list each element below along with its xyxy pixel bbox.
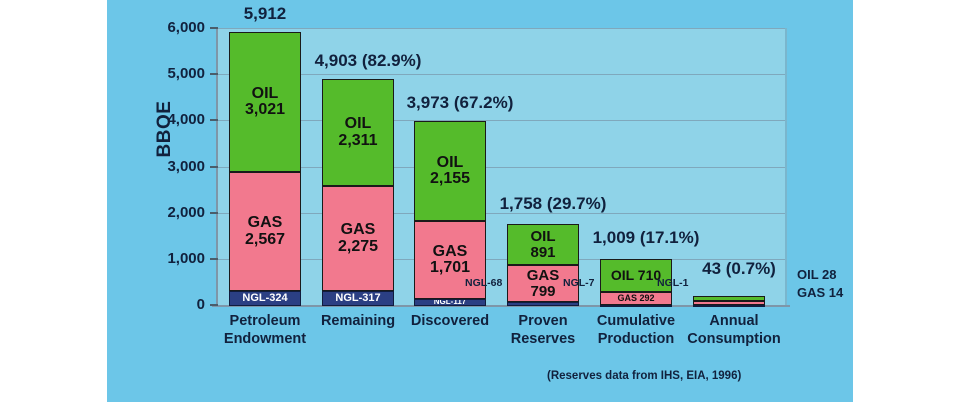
x-category-cumulative-production: Cumulative Production [586,313,686,348]
x-category-remaining: Remaining [308,313,408,331]
ngl-callout-cumulative-production: NGL-7 [563,277,595,289]
bar-proven-reserves[interactable]: OIL 891 GAS 799 [507,224,579,306]
ngl-callout-annual-consumption: NGL-1 [657,277,689,289]
annual-consumption-side-note: OIL 28 GAS 14 [797,266,843,301]
segment-gas[interactable]: GAS 2,567 [229,172,301,291]
segment-gas-name: GAS [341,222,376,238]
y-tick-mark-4000 [210,119,218,121]
segment-oil[interactable]: OIL 3,021 [229,32,301,172]
segment-gas[interactable]: GAS 292 [600,292,672,305]
segment-gas-value: 1,701 [430,260,470,276]
segment-oil-value: 2,155 [430,171,470,187]
x-category-line1: Annual [679,313,789,331]
segment-ngl-label: NGL-324 [242,293,287,304]
bar-remaining[interactable]: OIL 2,311 GAS 2,275 NGL-317 [322,79,394,306]
y-tick-label-4000: 4,000 [135,111,205,128]
y-tick-label-0: 0 [135,296,205,313]
segment-oil-value: 891 [530,245,555,260]
segment-gas[interactable]: GAS 2,275 [322,186,394,291]
segment-ngl[interactable] [507,302,579,306]
x-category-line1: Proven [493,313,593,331]
side-note-oil: OIL 28 [797,266,843,284]
segment-ngl[interactable] [600,305,672,307]
bar-annual-consumption[interactable] [693,296,765,306]
x-category-proven-reserves: Proven Reserves [493,313,593,348]
bar-total-cumulative-production: 1,009 (17.1%) [571,228,721,248]
segment-ngl[interactable] [693,305,765,307]
segment-gas-value: 2,567 [245,232,285,248]
ngl-callout-proven-reserves: NGL-68 [465,277,502,289]
segment-gas-name: GAS [527,268,560,283]
y-tick-mark-6000 [210,27,218,29]
y-tick-label-2000: 2,000 [135,204,205,221]
x-category-petroleum-endowment: Petroleum Endowment [215,313,315,348]
segment-ngl-label: NGL-117 [434,299,466,306]
segment-ngl[interactable]: NGL-317 [322,291,394,306]
bar-total-petroleum-endowment: 5,912 [210,4,320,24]
x-category-discovered: Discovered [400,313,500,331]
segment-oil[interactable]: OIL 2,311 [322,79,394,186]
x-category-line1: Discovered [400,313,500,331]
y-tick-label-5000: 5,000 [135,65,205,82]
segment-oil[interactable]: OIL 2,155 [414,121,486,221]
source-note: (Reserves data from IHS, EIA, 1996) [547,370,741,382]
bar-total-discovered: 3,973 (67.2%) [385,93,535,113]
gridline-4000 [217,120,785,121]
y-tick-mark-0 [210,304,218,306]
y-tick-mark-1000 [210,258,218,260]
y-tick-mark-5000 [210,73,218,75]
side-note-gas: GAS 14 [797,284,843,302]
segment-oil-name: OIL [345,116,372,132]
segment-ngl[interactable]: NGL-324 [229,291,301,306]
y-tick-label-3000: 3,000 [135,158,205,175]
segment-ngl-label: NGL-317 [335,293,380,304]
x-category-annual-consumption: Annual Consumption [679,313,789,348]
segment-oil-name: OIL 710 [611,268,661,282]
segment-oil-name: OIL [437,155,464,171]
x-category-line2: Reserves [493,331,593,349]
segment-oil-name: OIL [252,86,279,102]
gridline-6000 [217,28,785,29]
x-category-line2: Production [586,331,686,349]
bar-total-remaining: 4,903 (82.9%) [293,51,443,71]
segment-gas-name: GAS 292 [617,294,654,303]
segment-gas-name: GAS [433,244,468,260]
x-category-line1: Remaining [308,313,408,331]
y-tick-label-6000: 6,000 [135,19,205,36]
gridline-5000 [217,74,785,75]
x-category-line2: Consumption [679,331,789,349]
segment-oil[interactable]: OIL 891 [507,224,579,265]
bar-total-annual-consumption: 43 (0.7%) [664,259,814,279]
segment-gas-value: 2,275 [338,239,378,255]
x-category-line2: Endowment [215,331,315,349]
segment-gas-value: 799 [530,284,555,299]
chart-container: BBOE 6,000 5,000 4,000 3,000 2,000 1,000… [107,0,853,402]
y-tick-mark-2000 [210,212,218,214]
segment-ngl[interactable]: NGL-117 [414,299,486,306]
segment-oil-name: OIL [531,229,556,244]
segment-gas-name: GAS [248,215,283,231]
y-tick-label-1000: 1,000 [135,250,205,267]
bar-total-proven-reserves: 1,758 (29.7%) [478,194,628,214]
bar-petroleum-endowment[interactable]: OIL 3,021 GAS 2,567 NGL-324 [229,32,301,306]
segment-oil-value: 3,021 [245,102,285,118]
x-category-line1: Cumulative [586,313,686,331]
x-category-line1: Petroleum [215,313,315,331]
segment-oil-value: 2,311 [338,133,377,149]
gridline-3000 [217,167,785,168]
y-tick-mark-3000 [210,166,218,168]
